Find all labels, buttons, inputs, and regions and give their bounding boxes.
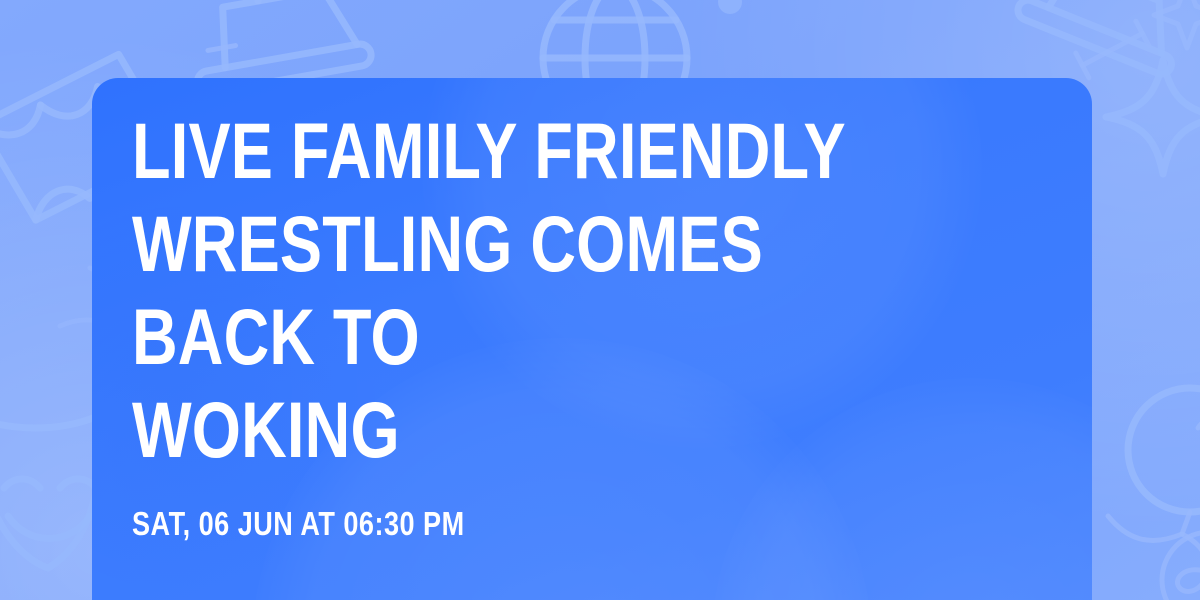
event-title: LIVE FAMILY FRIENDLY WRESTLING COMES BAC… (132, 104, 868, 476)
event-card[interactable]: LIVE FAMILY FRIENDLY WRESTLING COMES BAC… (92, 78, 1092, 600)
card-content: LIVE FAMILY FRIENDLY WRESTLING COMES BAC… (132, 104, 1052, 544)
event-date: SAT, 06 JUN AT 06:30 PM (132, 476, 886, 544)
event-banner: LIVE FAMILY FRIENDLY WRESTLING COMES BAC… (0, 0, 1200, 600)
